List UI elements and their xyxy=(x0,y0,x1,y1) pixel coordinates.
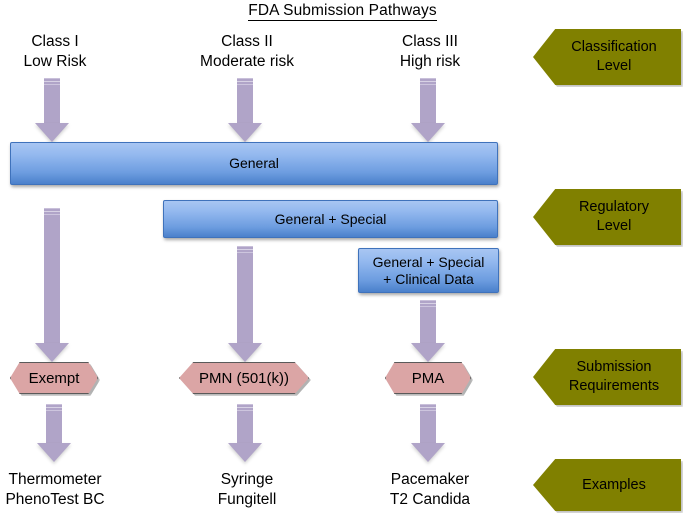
class-label-3: Class III High risk xyxy=(375,32,485,72)
page-title: FDA Submission Pathways xyxy=(0,2,685,20)
submission-exempt[interactable]: Exempt xyxy=(10,362,98,394)
regulatory-bar-general-special[interactable]: General + Special xyxy=(163,200,498,238)
arrow-exempt-to-examples xyxy=(35,404,73,462)
submission-pmn[interactable]: PMN (501(k)) xyxy=(179,362,309,394)
callout-regulatory-level[interactable]: Regulatory Level xyxy=(533,189,681,245)
arrow-general-to-exempt xyxy=(33,208,71,362)
arrow-clinical-to-pma xyxy=(409,300,447,362)
callout-submission-requirements[interactable]: Submission Requirements xyxy=(533,349,681,405)
arrow-pma-to-examples xyxy=(409,404,447,462)
diagram-canvas: FDA Submission Pathways Class I Low Risk… xyxy=(0,0,685,520)
arrow-class3-to-general xyxy=(409,78,447,142)
example-label-1: Thermometer PhenoTest BC xyxy=(0,470,110,510)
callout-classification-level[interactable]: Classification Level xyxy=(533,29,681,85)
example-label-3: Pacemaker T2 Candida xyxy=(375,470,485,510)
class-label-1: Class I Low Risk xyxy=(0,32,110,72)
page-title-text: FDA Submission Pathways xyxy=(248,2,436,21)
arrow-class2-to-general xyxy=(226,78,264,142)
callout-examples[interactable]: Examples xyxy=(533,459,681,511)
example-label-2: Syringe Fungitell xyxy=(192,470,302,510)
regulatory-bar-general-special-clinical[interactable]: General + Special + Clinical Data xyxy=(358,248,499,293)
regulatory-bar-general[interactable]: General xyxy=(10,142,498,185)
arrow-class1-to-general xyxy=(33,78,71,142)
arrow-pmn-to-examples xyxy=(226,404,264,462)
submission-pma[interactable]: PMA xyxy=(385,362,471,394)
arrow-general-special-to-pmn xyxy=(226,246,264,362)
class-label-2: Class II Moderate risk xyxy=(192,32,302,72)
